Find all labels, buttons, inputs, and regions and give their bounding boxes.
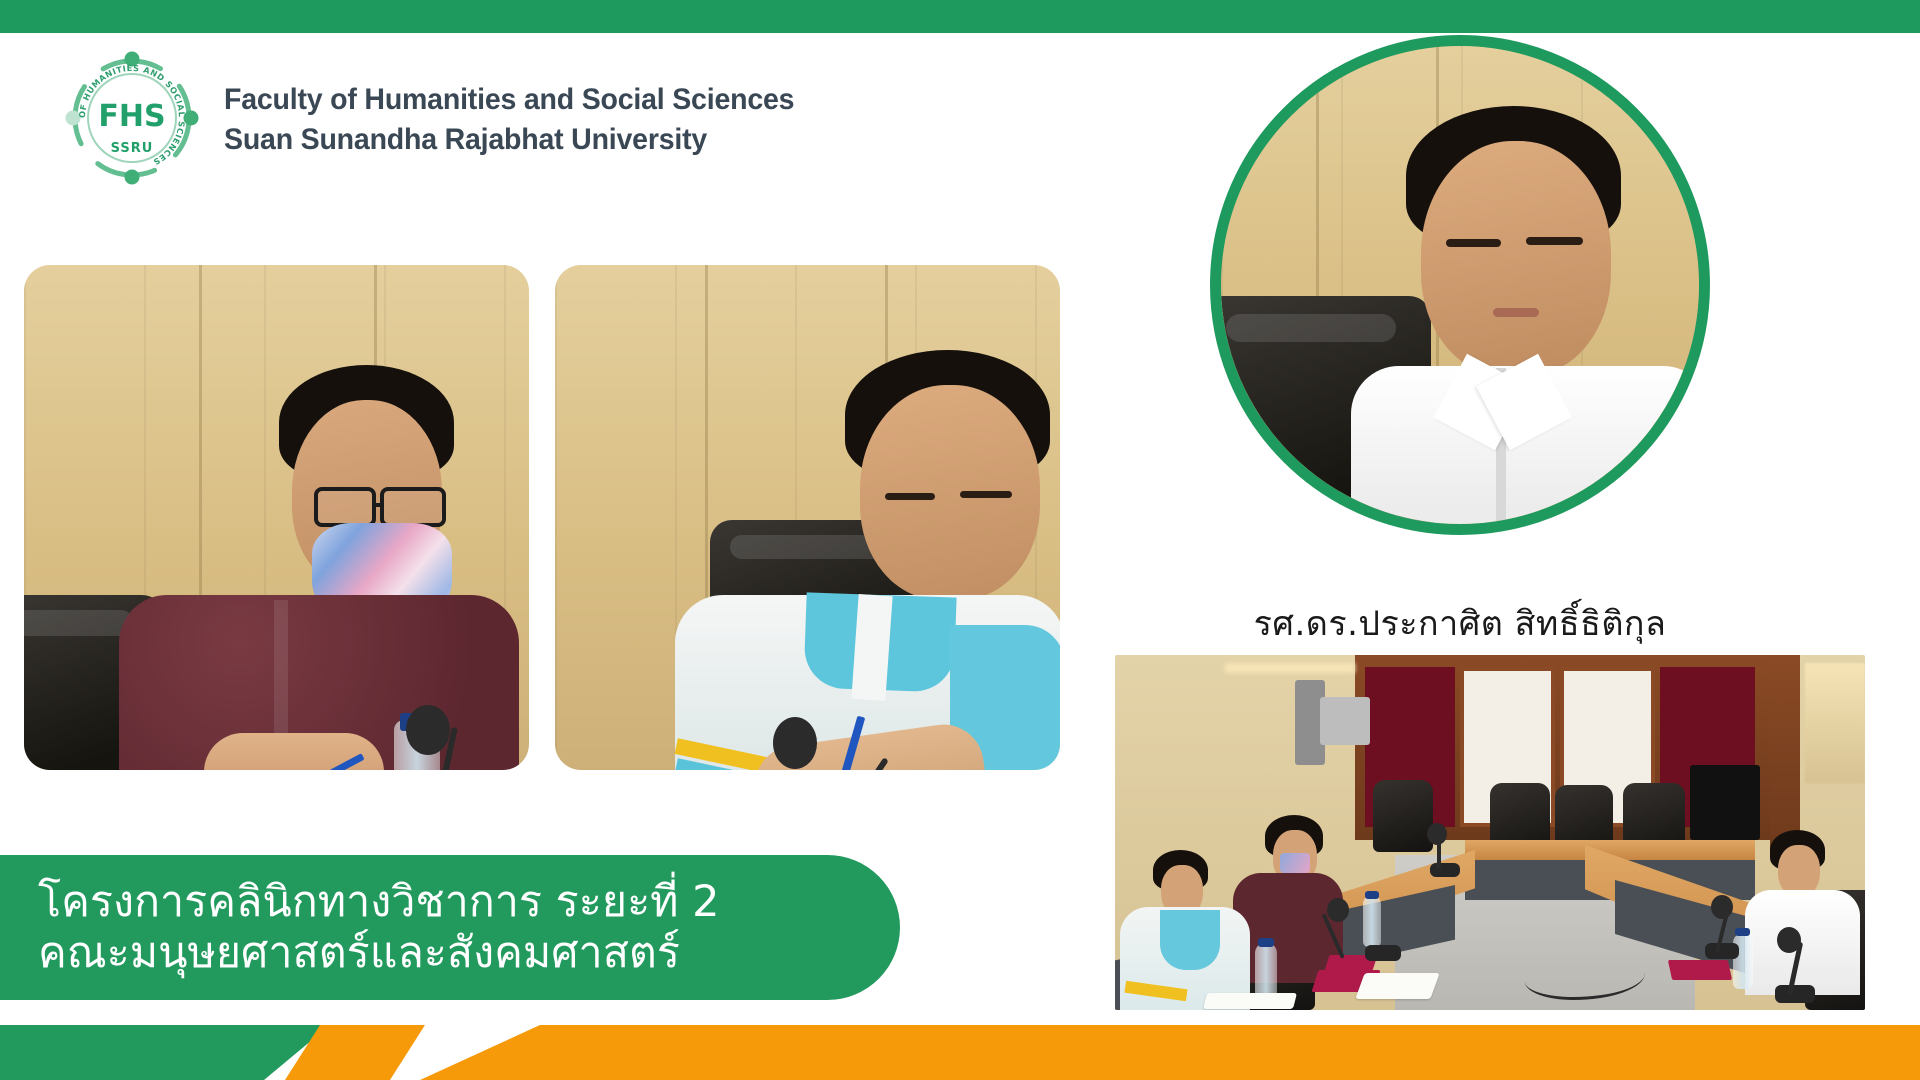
fhs-ssru-logo-icon: FACULTY OF HUMANITIES AND SOCIAL SCIENCE… [62, 48, 202, 188]
photo-meeting-room [1115, 655, 1865, 1010]
photo-participant-masked [24, 265, 529, 770]
header-title-line1: Faculty of Humanities and Social Science… [224, 80, 794, 120]
stripe-green [0, 1025, 330, 1080]
banner-title-line2: คณะมนุษยศาสตร์และสังคมศาสตร์ [38, 928, 900, 979]
top-green-bar [0, 0, 1920, 33]
header: FACULTY OF HUMANITIES AND SOCIAL SCIENCE… [62, 48, 824, 188]
header-title-block: Faculty of Humanities and Social Science… [224, 76, 824, 159]
photo-participant-writing [555, 265, 1060, 770]
svg-text:SSRU: SSRU [111, 141, 154, 156]
banner-title-line1: โครงการคลินิกทางวิชาการ ระยะที่ 2 [38, 877, 900, 928]
bottom-decorative-stripes [0, 1025, 1920, 1080]
header-title-line2: Suan Sunandha Rajabhat University [224, 120, 794, 160]
stripe-orange-wide [420, 1025, 1920, 1080]
portrait-speaker [1210, 35, 1710, 535]
svg-text:FHS: FHS [98, 99, 165, 134]
project-title-banner: โครงการคลินิกทางวิชาการ ระยะที่ 2 คณะมนุ… [0, 855, 900, 1000]
portrait-caption: รศ.ดร.ประกาศิต สิทธิ์ธิติกุล [1210, 596, 1710, 650]
